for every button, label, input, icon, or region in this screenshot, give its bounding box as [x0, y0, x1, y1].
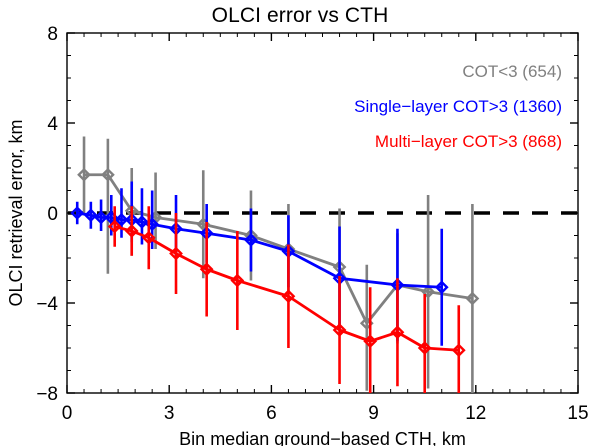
x-tick-label: 6 — [266, 403, 277, 424]
x-tick-label: 9 — [368, 403, 379, 424]
y-axis-title: OLCI retrieval error, km — [6, 119, 26, 306]
y-tick-label: 4 — [47, 114, 58, 135]
series-layer — [72, 137, 478, 394]
plot-canvas: 03691215840−4−8Bin median ground−based C… — [0, 0, 600, 446]
series-808080 — [79, 137, 478, 394]
axis-label-layer: 03691215840−4−8Bin median ground−based C… — [6, 24, 589, 446]
figure: OLCI error vs CTH 03691215840−4−8Bin med… — [0, 0, 600, 446]
legend-entry: Single−layer COT>3 (1360) — [354, 97, 562, 116]
y-tick-label: 0 — [47, 204, 58, 225]
x-tick-label: 12 — [465, 403, 486, 424]
y-tick-label: −4 — [36, 294, 58, 315]
y-tick-label: 8 — [47, 24, 58, 45]
x-tick-label: 15 — [567, 403, 588, 424]
series-ff0000 — [109, 206, 463, 393]
x-axis-title: Bin median ground−based CTH, km — [179, 429, 466, 446]
legend: COT<3 (654)Single−layer COT>3 (1360)Mult… — [354, 62, 562, 151]
x-tick-label: 3 — [164, 403, 175, 424]
x-tick-label: 0 — [62, 403, 73, 424]
y-tick-label: −8 — [36, 384, 58, 405]
legend-entry: Multi−layer COT>3 (868) — [375, 132, 562, 151]
legend-entry: COT<3 (654) — [462, 62, 562, 81]
